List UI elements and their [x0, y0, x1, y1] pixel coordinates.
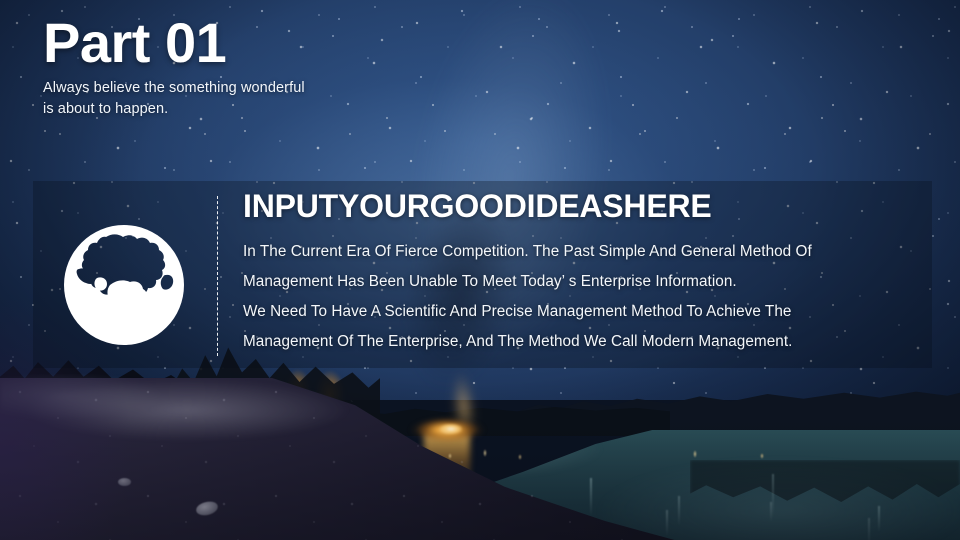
body-line-2: Management Has Been Unable To Meet Today… [243, 267, 903, 297]
slide-header: Part 01 Always believe the something won… [43, 14, 543, 119]
body-line-3: We Need To Have A Scientific And Precise… [243, 297, 903, 327]
vertical-divider [217, 196, 218, 356]
globe-icon [62, 223, 186, 347]
page-title: Part 01 [43, 14, 543, 71]
campfire-core [440, 424, 462, 434]
body-line-1: In The Current Era Of Fierce Competition… [243, 237, 903, 267]
subtitle-line-2: is about to happen. [43, 99, 543, 120]
subtitle: Always believe the something wonderful i… [43, 78, 543, 119]
slide-root: Part 01 Always believe the something won… [0, 0, 960, 540]
content-block: INPUTYOURGOODIDEASHERE In The Current Er… [243, 190, 903, 357]
subtitle-line-1: Always believe the something wonderful [43, 78, 543, 99]
body-line-4: Management Of The Enterprise, And The Me… [243, 327, 903, 357]
content-heading: INPUTYOURGOODIDEASHERE [243, 190, 903, 224]
foreground-stone-small [118, 478, 131, 486]
content-body: In The Current Era Of Fierce Competition… [243, 237, 903, 357]
